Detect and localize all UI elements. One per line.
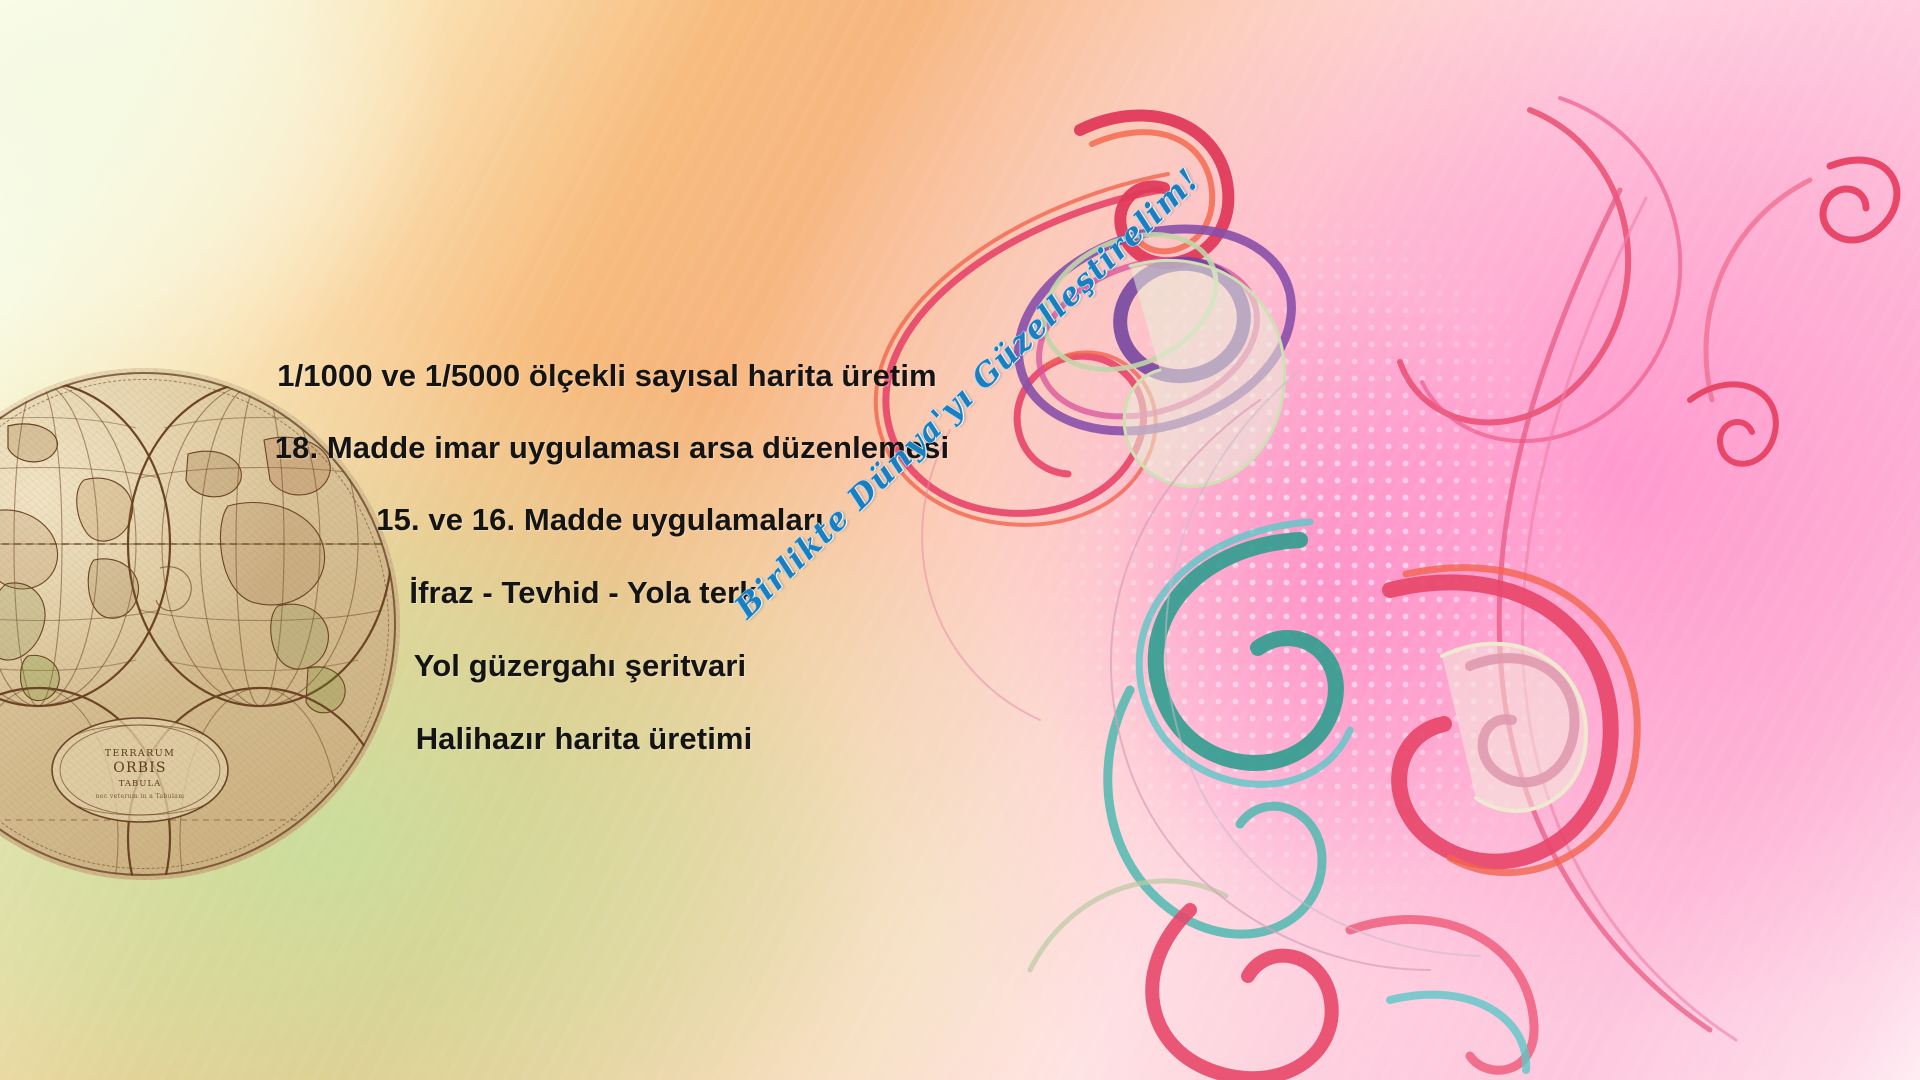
bullet-line-6: Halihazır harita üretimi xyxy=(218,723,950,754)
bullet-list: 1/1000 ve 1/5000 ölçekli sayısal harita … xyxy=(230,360,950,754)
bullet-line-2: 18. Madde imar uygulaması arsa düzenleme… xyxy=(274,432,950,463)
bullet-line-5: Yol güzergahı şeritvari xyxy=(210,650,950,681)
bullet-line-4: İfraz - Tevhid - Yola terk xyxy=(216,577,950,608)
slide-canvas: Harita ve imar uygulamaları hizmet liste… xyxy=(0,0,1920,1080)
bullet-line-1: 1/1000 ve 1/5000 ölçekli sayısal harita … xyxy=(264,360,950,391)
